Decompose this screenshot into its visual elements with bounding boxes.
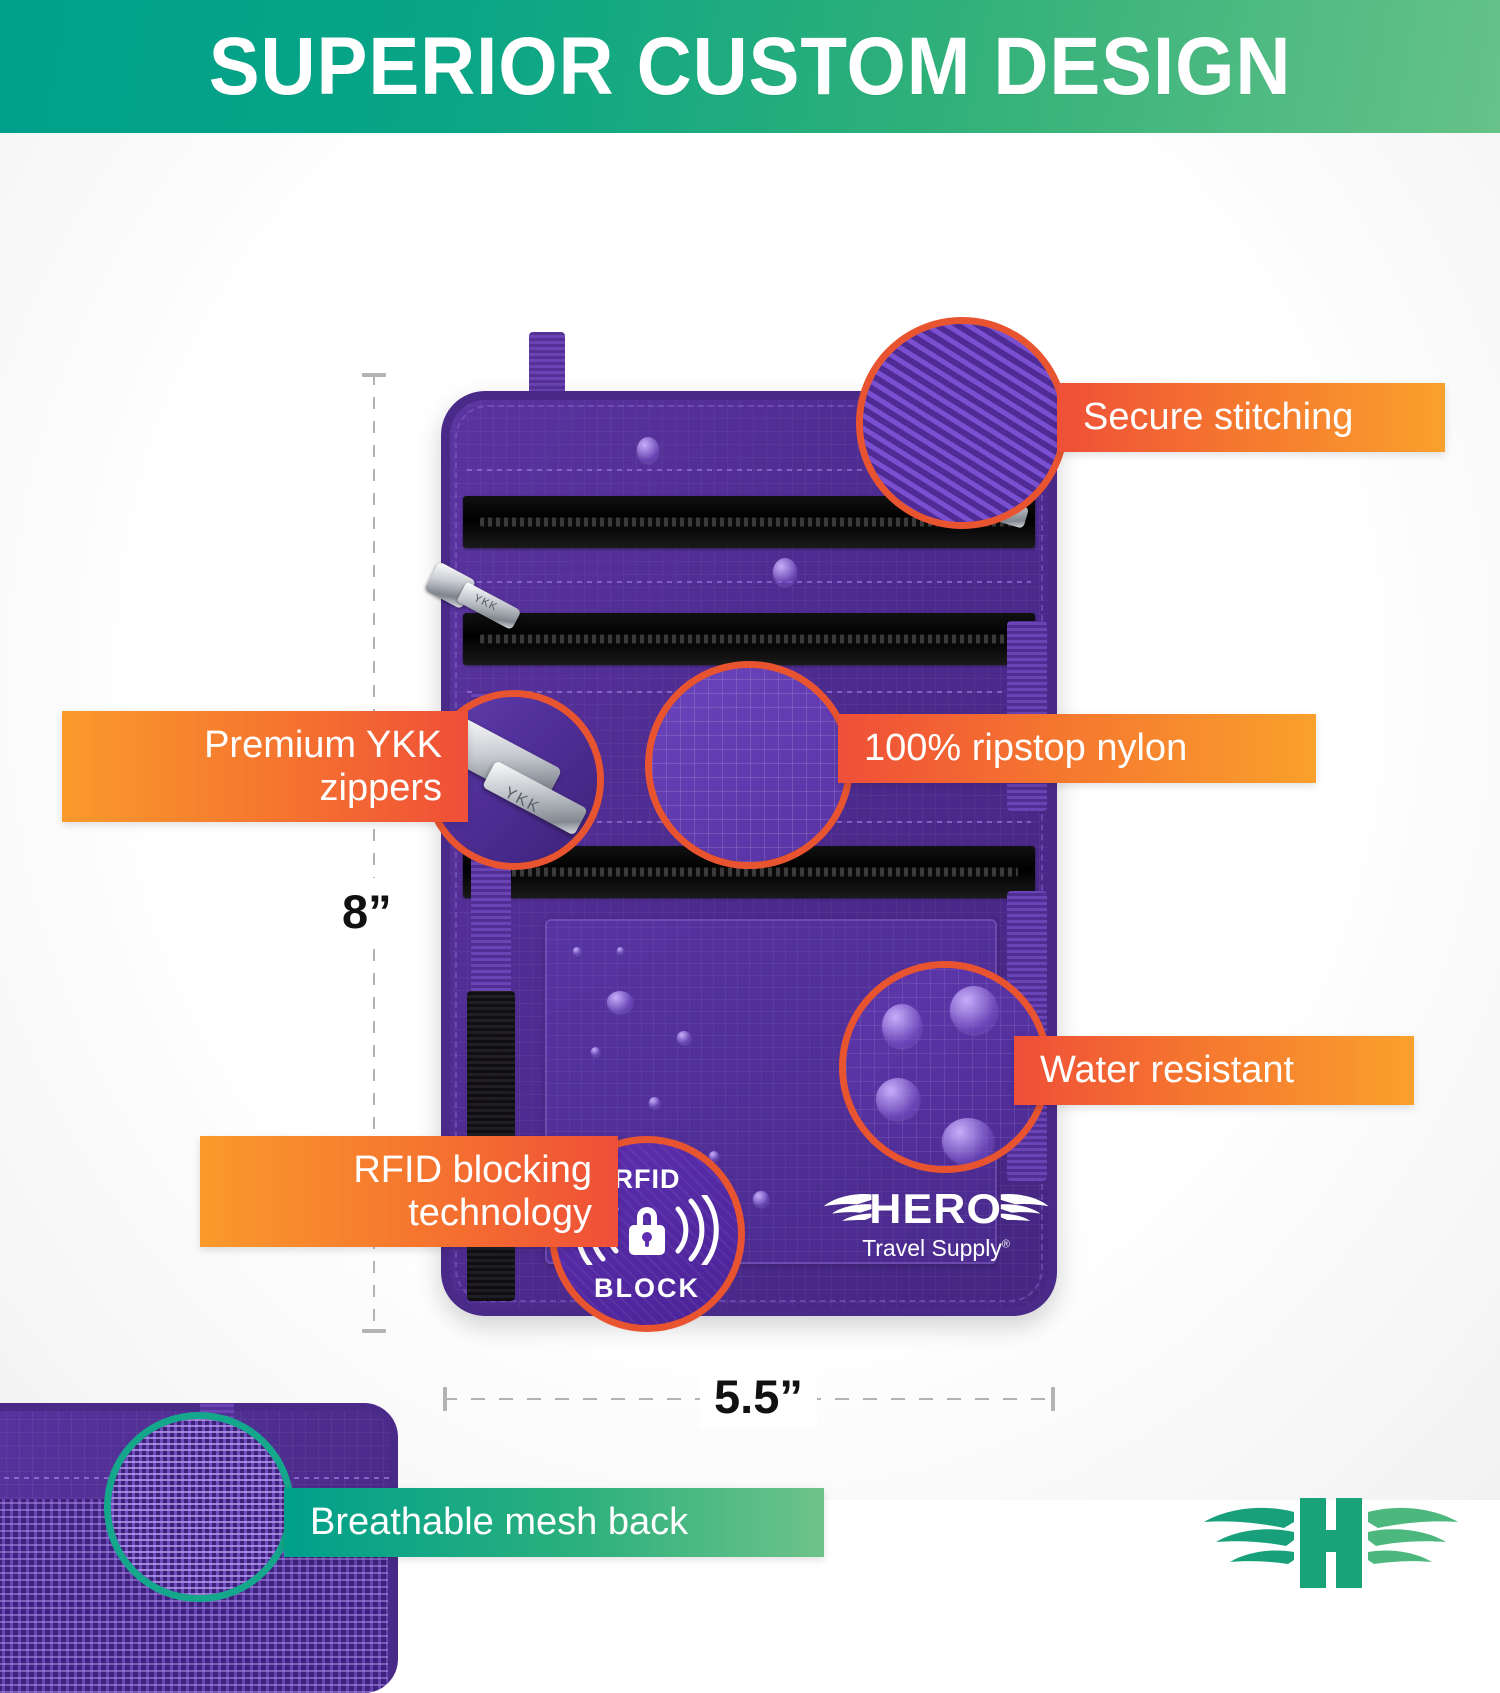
water-droplet: [591, 1047, 600, 1056]
trademark-symbol: ®: [1002, 1238, 1010, 1250]
water-droplet: [773, 558, 797, 586]
water-droplet: [950, 986, 998, 1034]
page-title: SUPERIOR CUSTOM DESIGN: [209, 20, 1292, 114]
callout-label-breathable-mesh-back: Breathable mesh back: [284, 1488, 824, 1557]
water-droplet: [649, 1097, 660, 1108]
water-droplet: [753, 1191, 769, 1207]
hero-brand-logo: HERO Travel Supply®: [822, 1185, 1050, 1271]
water-droplet: [677, 1031, 691, 1044]
panel-seam-2: [467, 581, 1031, 583]
header-banner: SUPERIOR CUSTOM DESIGN: [0, 0, 1500, 133]
callout-label-secure-stitching: Secure stitching: [1057, 383, 1445, 452]
wing-right-icon: [999, 1187, 1050, 1231]
callout-label-rfid-blocking: RFID blocking technology: [200, 1136, 618, 1247]
water-droplet: [882, 1004, 922, 1048]
dimension-cap-left: [443, 1387, 447, 1411]
water-droplet: [637, 437, 659, 463]
ripstop-texture: [652, 668, 846, 862]
wing-left-icon: [822, 1187, 873, 1231]
callout-label-water-resistant: Water resistant: [1014, 1036, 1414, 1105]
product-stage: 8” 5.5”: [0, 133, 1500, 1500]
dimension-label-width: 5.5”: [700, 1365, 817, 1428]
brand-logo-winged-h: [1186, 1478, 1476, 1608]
hero-logo-text: HERO: [870, 1185, 1003, 1233]
zipper-row-middle: [463, 613, 1035, 665]
water-droplet: [573, 947, 581, 955]
callout-label-ykk-zippers: Premium YKK zippers: [62, 711, 468, 822]
zoom-bubble-ripstop-nylon: [645, 661, 853, 869]
stitching-texture: [863, 324, 1061, 522]
zoom-bubble-secure-stitching: [856, 317, 1068, 529]
hero-logo-tagline: Travel Supply®: [822, 1235, 1050, 1262]
water-droplet: [607, 991, 633, 1013]
hero-logo-wordmark-row: HERO: [822, 1185, 1050, 1233]
zoom-bubble-breathable-mesh: [104, 1412, 294, 1602]
water-droplet: [942, 1118, 994, 1164]
water-droplet: [617, 947, 624, 954]
dimension-label-height: 8”: [334, 878, 400, 945]
rfid-badge-bottom-label: BLOCK: [572, 1275, 722, 1302]
dimension-cap-top: [362, 373, 386, 377]
water-droplet: [876, 1078, 920, 1120]
callout-label-ripstop-nylon: 100% ripstop nylon: [838, 714, 1316, 783]
dimension-cap-right: [1051, 1387, 1055, 1411]
winged-h-icon: [1186, 1478, 1476, 1608]
dimension-cap-bottom: [362, 1329, 386, 1333]
mesh-texture: [111, 1419, 287, 1595]
